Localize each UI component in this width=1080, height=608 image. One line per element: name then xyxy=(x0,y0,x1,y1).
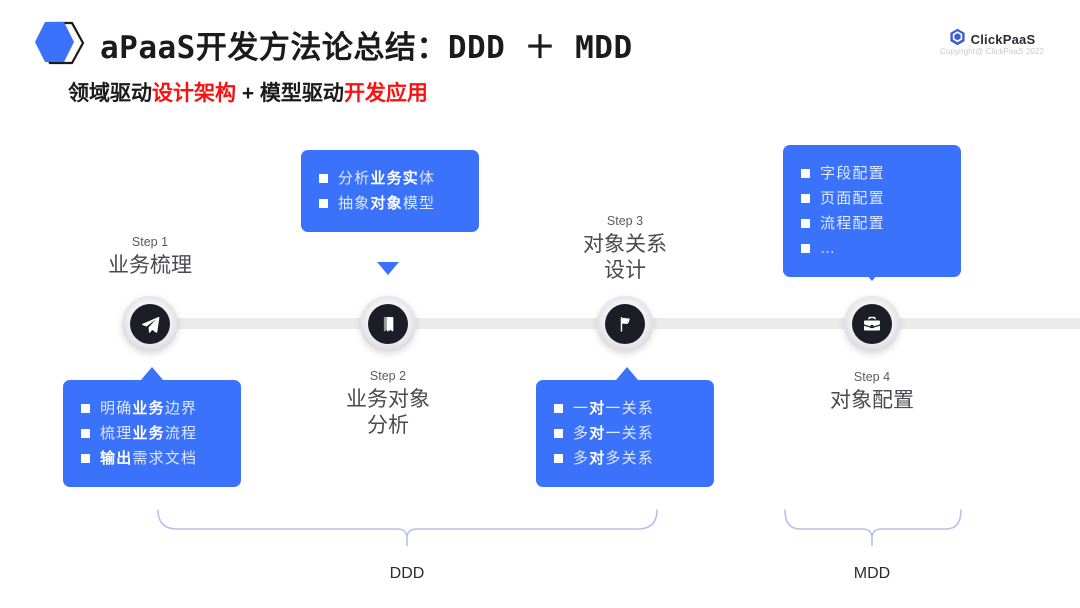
step-callout-list-1: 明确业务边界 梳理业务流程 输出需求文档 xyxy=(81,396,223,471)
step-index-2: Step 2 xyxy=(298,367,478,386)
list-item: 页面配置 xyxy=(801,186,943,211)
brand-mark: ClickPaaS Copyright@ ClickPaaS 2022 xyxy=(932,28,1052,56)
bullet-square-icon xyxy=(554,454,563,463)
step-index-1: Step 1 xyxy=(60,233,240,252)
briefcase-icon xyxy=(852,304,892,344)
callout-1-item-0: 明确业务边界 xyxy=(100,401,197,416)
callout-2-item-0: 分析业务实体 xyxy=(338,171,435,186)
brand-name: ClickPaaS xyxy=(971,32,1036,47)
subtitle-part-4-highlight: 开发应用 xyxy=(344,82,428,105)
bullet-square-icon xyxy=(801,219,810,228)
timeline-node-2[interactable] xyxy=(360,296,416,352)
step-callout-1: 明确业务边界 梳理业务流程 输出需求文档 xyxy=(63,380,241,487)
bracket-label-ddd: DDD xyxy=(337,565,477,583)
bullet-square-icon xyxy=(81,429,90,438)
callout-4-item-3: … xyxy=(820,241,836,256)
callout-1-item-2: 输出需求文档 xyxy=(100,451,197,466)
list-item: 明确业务边界 xyxy=(81,396,223,421)
step-callout-3: 一对一关系 多对一关系 多对多关系 xyxy=(536,380,714,487)
bullet-square-icon xyxy=(81,454,90,463)
list-item: 多对多关系 xyxy=(554,446,696,471)
list-item: 输出需求文档 xyxy=(81,446,223,471)
bullet-square-icon xyxy=(801,244,810,253)
step-title-2-line-1: 业务对象 xyxy=(298,387,478,413)
step-label-1: Step 1 业务梳理 xyxy=(60,233,240,278)
callout-tip-4 xyxy=(861,268,883,281)
slide-canvas: aPaaS开发方法论总结：DDD ＋ MDD 领域驱动设计架构 + 模型驱动开发… xyxy=(0,0,1080,608)
page-subtitle: 领域驱动设计架构 + 模型驱动开发应用 xyxy=(68,77,428,107)
callout-tip-2 xyxy=(377,262,399,275)
book-icon xyxy=(368,304,408,344)
timeline-node-1[interactable] xyxy=(122,296,178,352)
step-title-4: 对象配置 xyxy=(782,388,962,414)
callout-tip-1 xyxy=(141,367,163,380)
list-item: 一对一关系 xyxy=(554,396,696,421)
callout-4-item-1: 页面配置 xyxy=(820,191,885,206)
callout-1-item-1: 梳理业务流程 xyxy=(100,426,197,441)
callout-3-item-2: 多对多关系 xyxy=(573,451,654,466)
list-item: 字段配置 xyxy=(801,161,943,186)
bullet-square-icon xyxy=(319,199,328,208)
subtitle-part-1: 领域驱动 xyxy=(68,82,152,105)
list-item: 分析业务实体 xyxy=(319,166,461,191)
list-item: … xyxy=(801,236,943,261)
step-title-1: 业务梳理 xyxy=(60,253,240,279)
step-label-4: Step 4 对象配置 xyxy=(782,368,962,413)
list-item: 梳理业务流程 xyxy=(81,421,223,446)
step-index-3: Step 3 xyxy=(535,212,715,231)
bullet-square-icon xyxy=(801,194,810,203)
subtitle-part-2-highlight: 设计架构 xyxy=(152,82,236,105)
step-label-2: Step 2 业务对象 分析 xyxy=(298,367,478,439)
hexagon-logo-icon xyxy=(30,19,86,71)
paper-plane-icon xyxy=(130,304,170,344)
timeline-node-3[interactable] xyxy=(597,296,653,352)
step-title-3-line-2: 设计 xyxy=(535,258,715,284)
bullet-square-icon xyxy=(554,404,563,413)
step-title-3-line-1: 对象关系 xyxy=(535,232,715,258)
bracket-mdd xyxy=(782,507,964,549)
list-item: 流程配置 xyxy=(801,211,943,236)
callout-3-item-0: 一对一关系 xyxy=(573,401,654,416)
step-title-2-line-2: 分析 xyxy=(298,413,478,439)
callout-4-item-0: 字段配置 xyxy=(820,166,885,181)
copyright-text: Copyright@ ClickPaaS 2022 xyxy=(932,47,1052,56)
callout-3-item-1: 多对一关系 xyxy=(573,426,654,441)
page-title: aPaaS开发方法论总结：DDD ＋ MDD xyxy=(100,22,633,67)
subtitle-part-3: + 模型驱动 xyxy=(236,82,344,105)
callout-2-item-1: 抽象对象模型 xyxy=(338,196,435,211)
step-callout-list-3: 一对一关系 多对一关系 多对多关系 xyxy=(554,396,696,471)
timeline-node-4[interactable] xyxy=(844,296,900,352)
step-index-4: Step 4 xyxy=(782,368,962,387)
bullet-square-icon xyxy=(554,429,563,438)
bullet-square-icon xyxy=(319,174,328,183)
list-item: 抽象对象模型 xyxy=(319,191,461,216)
step-callout-4: 字段配置 页面配置 流程配置 … xyxy=(783,145,961,277)
callout-tip-3 xyxy=(616,367,638,380)
step-callout-list-4: 字段配置 页面配置 流程配置 … xyxy=(801,161,943,261)
step-callout-2: 分析业务实体 抽象对象模型 xyxy=(301,150,479,232)
callout-4-item-2: 流程配置 xyxy=(820,216,885,231)
bullet-square-icon xyxy=(81,404,90,413)
list-item: 多对一关系 xyxy=(554,421,696,446)
bullet-square-icon xyxy=(801,169,810,178)
step-label-3: Step 3 对象关系 设计 xyxy=(535,212,715,284)
flag-icon xyxy=(605,304,645,344)
step-callout-list-2: 分析业务实体 抽象对象模型 xyxy=(319,166,461,216)
bracket-ddd xyxy=(155,507,660,549)
bracket-label-mdd: MDD xyxy=(802,565,942,583)
